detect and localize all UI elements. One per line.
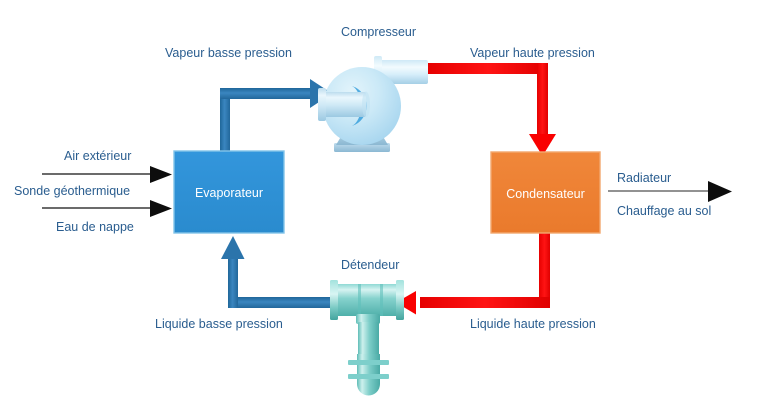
valve-stem	[358, 322, 379, 356]
pipe-high-pressure-liquid	[396, 233, 550, 315]
condenser-block[interactable]: Condensateur	[491, 152, 600, 233]
input-arrow-head-top	[150, 166, 172, 183]
valve-flange-right	[396, 280, 404, 320]
label-output-radiateur: Radiateur	[617, 171, 671, 185]
label-input-eau-de-nappe: Eau de nappe	[56, 220, 134, 234]
compressor-inlet-flange	[318, 88, 326, 121]
valve-body-horizontal	[336, 284, 398, 316]
pipe-low-pressure-liquid	[221, 236, 348, 308]
compressor-inlet-pipe	[322, 92, 366, 117]
label-low-pressure-vapor: Vapeur basse pression	[165, 46, 292, 60]
label-low-pressure-liquid: Liquide basse pression	[155, 317, 283, 331]
valve-fin-lower	[348, 374, 389, 379]
valve-fin-upper	[348, 360, 389, 365]
evaporator-label: Evaporateur	[195, 186, 263, 200]
expansion-valve-icon[interactable]	[330, 280, 404, 396]
label-high-pressure-vapor: Vapeur haute pression	[470, 46, 595, 60]
pipe-high-pressure-vapor	[428, 63, 556, 156]
output-arrow-head	[708, 181, 732, 202]
label-compressor: Compresseur	[341, 25, 416, 39]
compressor-inlet-mouth	[362, 92, 370, 118]
heat-pump-diagram: Evaporateur Condensateur	[0, 0, 768, 418]
evaporator-block[interactable]: Evaporateur	[174, 151, 284, 233]
compressor-icon[interactable]	[318, 56, 428, 152]
input-arrow-head-bottom	[150, 200, 172, 217]
label-input-air-exterieur: Air extérieur	[64, 149, 131, 163]
label-input-sonde-geothermique: Sonde géothermique	[14, 184, 130, 198]
label-output-chauffage-au-sol: Chauffage au sol	[617, 204, 711, 218]
valve-ridge-a	[358, 284, 361, 316]
diagram-canvas: Evaporateur Condensateur	[0, 0, 768, 418]
pipe-low-pressure-vapor	[220, 79, 332, 154]
valve-flange-left	[330, 280, 338, 320]
valve-ridge-b	[380, 284, 383, 316]
label-high-pressure-liquid: Liquide haute pression	[470, 317, 596, 331]
label-expansion-valve: Détendeur	[341, 258, 399, 272]
condenser-label: Condensateur	[506, 187, 585, 201]
